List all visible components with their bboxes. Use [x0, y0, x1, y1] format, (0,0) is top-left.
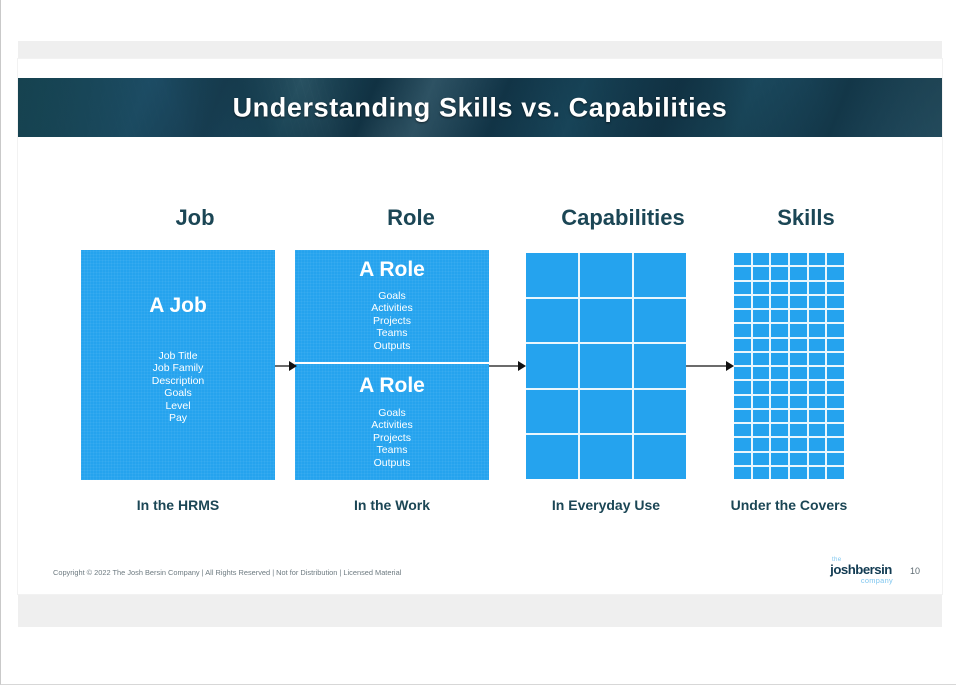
grid-cell — [771, 410, 788, 422]
job-list-item: Pay — [81, 412, 275, 424]
grid-cell — [753, 424, 770, 436]
role-top-list: Goals Activities Projects Teams Outputs — [295, 290, 489, 352]
grid-cell — [634, 299, 686, 343]
slide-page-number: 10 — [910, 566, 920, 576]
arrow-role-to-capabilities — [489, 361, 527, 371]
role-list-item: Goals — [295, 290, 489, 302]
grid-cell — [809, 367, 826, 379]
grid-cell — [809, 424, 826, 436]
column-footer-capabilities: In Everyday Use — [516, 497, 696, 513]
grid-cell — [734, 396, 751, 408]
grid-cell — [827, 296, 844, 308]
grid-cell — [634, 390, 686, 434]
role-box-bottom: A Role Goals Activities Projects Teams O… — [295, 364, 489, 480]
skills-grid — [734, 253, 844, 479]
grid-cell — [790, 282, 807, 294]
grid-cell — [827, 424, 844, 436]
grid-cell — [526, 390, 578, 434]
grid-cell — [790, 396, 807, 408]
grid-cell — [753, 367, 770, 379]
logo-company-text: company — [828, 577, 894, 584]
grid-cell — [771, 324, 788, 336]
grid-cell — [827, 310, 844, 322]
column-footer-job: In the HRMS — [90, 497, 266, 513]
grid-cell — [771, 310, 788, 322]
grid-cell — [580, 299, 632, 343]
grid-cell — [809, 438, 826, 450]
grid-cell — [827, 324, 844, 336]
grid-cell — [771, 467, 788, 479]
role-list-item: Outputs — [295, 340, 489, 352]
grid-cell — [771, 424, 788, 436]
role-list-item: Activities — [295, 419, 489, 431]
role-bottom-heading: A Role — [295, 375, 489, 397]
grid-cell — [809, 339, 826, 351]
grid-cell — [753, 396, 770, 408]
role-list-item: Teams — [295, 444, 489, 456]
grid-cell — [771, 296, 788, 308]
grid-cell — [827, 410, 844, 422]
grid-cell — [580, 390, 632, 434]
grid-cell — [827, 353, 844, 365]
logo-name-text: joshbersin — [828, 563, 894, 576]
job-list-item: Goals — [81, 387, 275, 399]
grid-cell — [790, 410, 807, 422]
grid-cell — [809, 310, 826, 322]
josh-bersin-logo: the joshbersin company — [828, 557, 894, 584]
grid-cell — [827, 267, 844, 279]
arrow-job-to-role — [275, 361, 298, 371]
grid-cell — [771, 438, 788, 450]
grid-cell — [827, 253, 844, 265]
slide-title: Understanding Skills vs. Capabilities — [18, 92, 942, 123]
grid-cell — [771, 353, 788, 365]
column-title-job: Job — [110, 205, 280, 231]
grid-cell — [771, 253, 788, 265]
grid-cell — [753, 339, 770, 351]
grid-cell — [827, 438, 844, 450]
slide-banner: Understanding Skills vs. Capabilities — [18, 78, 942, 137]
grid-cell — [790, 367, 807, 379]
grid-cell — [526, 299, 578, 343]
role-top-heading: A Role — [295, 259, 489, 281]
grid-cell — [734, 438, 751, 450]
grid-cell — [734, 282, 751, 294]
grid-cell — [753, 310, 770, 322]
job-box-list: Job Title Job Family Description Goals L… — [81, 350, 275, 424]
grid-cell — [809, 267, 826, 279]
grid-cell — [809, 296, 826, 308]
grid-cell — [809, 282, 826, 294]
column-title-capabilities: Capabilities — [523, 205, 723, 231]
grid-cell — [634, 344, 686, 388]
grid-cell — [634, 253, 686, 297]
grid-cell — [753, 381, 770, 393]
role-list-item: Goals — [295, 407, 489, 419]
job-box: A Job Job Title Job Family Description G… — [81, 250, 275, 480]
grid-cell — [790, 453, 807, 465]
job-list-item: Description — [81, 375, 275, 387]
grid-cell — [827, 467, 844, 479]
grid-cell — [734, 324, 751, 336]
grid-cell — [734, 367, 751, 379]
grid-cell — [734, 353, 751, 365]
role-list-item: Projects — [295, 315, 489, 327]
grid-cell — [790, 253, 807, 265]
grid-cell — [827, 282, 844, 294]
grid-cell — [734, 310, 751, 322]
grid-cell — [734, 296, 751, 308]
grid-cell — [790, 467, 807, 479]
grid-cell — [790, 339, 807, 351]
arrow-capabilities-to-skills — [686, 361, 735, 371]
grid-cell — [580, 435, 632, 479]
column-title-role: Role — [321, 205, 501, 231]
grid-cell — [753, 296, 770, 308]
grid-cell — [734, 453, 751, 465]
grid-cell — [809, 353, 826, 365]
grid-cell — [790, 381, 807, 393]
copyright-text: Copyright © 2022 The Josh Bersin Company… — [53, 568, 401, 577]
role-bottom-list: Goals Activities Projects Teams Outputs — [295, 407, 489, 469]
role-list-item: Outputs — [295, 457, 489, 469]
grid-cell — [771, 453, 788, 465]
grid-cell — [790, 267, 807, 279]
grid-cell — [753, 438, 770, 450]
grid-cell — [809, 253, 826, 265]
grid-cell — [734, 381, 751, 393]
role-list-item: Teams — [295, 327, 489, 339]
grid-cell — [753, 453, 770, 465]
column-title-skills: Skills — [721, 205, 891, 231]
role-list-item: Projects — [295, 432, 489, 444]
grid-cell — [827, 396, 844, 408]
column-footer-skills: Under the Covers — [701, 497, 877, 513]
screenshot-page: Understanding Skills vs. Capabilities Jo… — [0, 0, 956, 685]
grid-cell — [790, 353, 807, 365]
grid-cell — [580, 253, 632, 297]
grid-cell — [753, 467, 770, 479]
grid-cell — [634, 435, 686, 479]
capabilities-grid — [526, 253, 686, 479]
grid-cell — [771, 367, 788, 379]
presentation-slide: Understanding Skills vs. Capabilities Jo… — [18, 59, 942, 594]
grid-cell — [771, 267, 788, 279]
role-list-item: Activities — [295, 302, 489, 314]
grid-cell — [790, 324, 807, 336]
grid-cell — [526, 344, 578, 388]
grid-cell — [734, 267, 751, 279]
role-box-top: A Role Goals Activities Projects Teams O… — [295, 250, 489, 362]
grid-cell — [809, 396, 826, 408]
grid-cell — [809, 324, 826, 336]
grid-cell — [753, 282, 770, 294]
grid-cell — [771, 339, 788, 351]
grid-cell — [734, 410, 751, 422]
grid-cell — [827, 339, 844, 351]
grid-cell — [771, 282, 788, 294]
grid-cell — [771, 396, 788, 408]
grid-cell — [790, 438, 807, 450]
job-list-item: Level — [81, 400, 275, 412]
grid-cell — [753, 353, 770, 365]
job-list-item: Job Title — [81, 350, 275, 362]
grid-cell — [753, 267, 770, 279]
grid-cell — [827, 381, 844, 393]
grid-cell — [526, 435, 578, 479]
grid-cell — [809, 453, 826, 465]
grid-cell — [734, 339, 751, 351]
grid-cell — [753, 253, 770, 265]
job-list-item: Job Family — [81, 362, 275, 374]
grid-cell — [771, 381, 788, 393]
grid-cell — [734, 424, 751, 436]
grid-cell — [753, 324, 770, 336]
grid-cell — [790, 310, 807, 322]
grid-cell — [827, 367, 844, 379]
grid-cell — [790, 296, 807, 308]
job-box-heading: A Job — [81, 295, 275, 317]
grid-cell — [809, 467, 826, 479]
grid-cell — [580, 344, 632, 388]
grid-cell — [790, 424, 807, 436]
column-footer-role: In the Work — [304, 497, 480, 513]
grid-cell — [526, 253, 578, 297]
grid-cell — [753, 410, 770, 422]
grid-cell — [827, 453, 844, 465]
grid-cell — [809, 381, 826, 393]
grid-cell — [734, 253, 751, 265]
grid-cell — [809, 410, 826, 422]
grid-cell — [734, 467, 751, 479]
